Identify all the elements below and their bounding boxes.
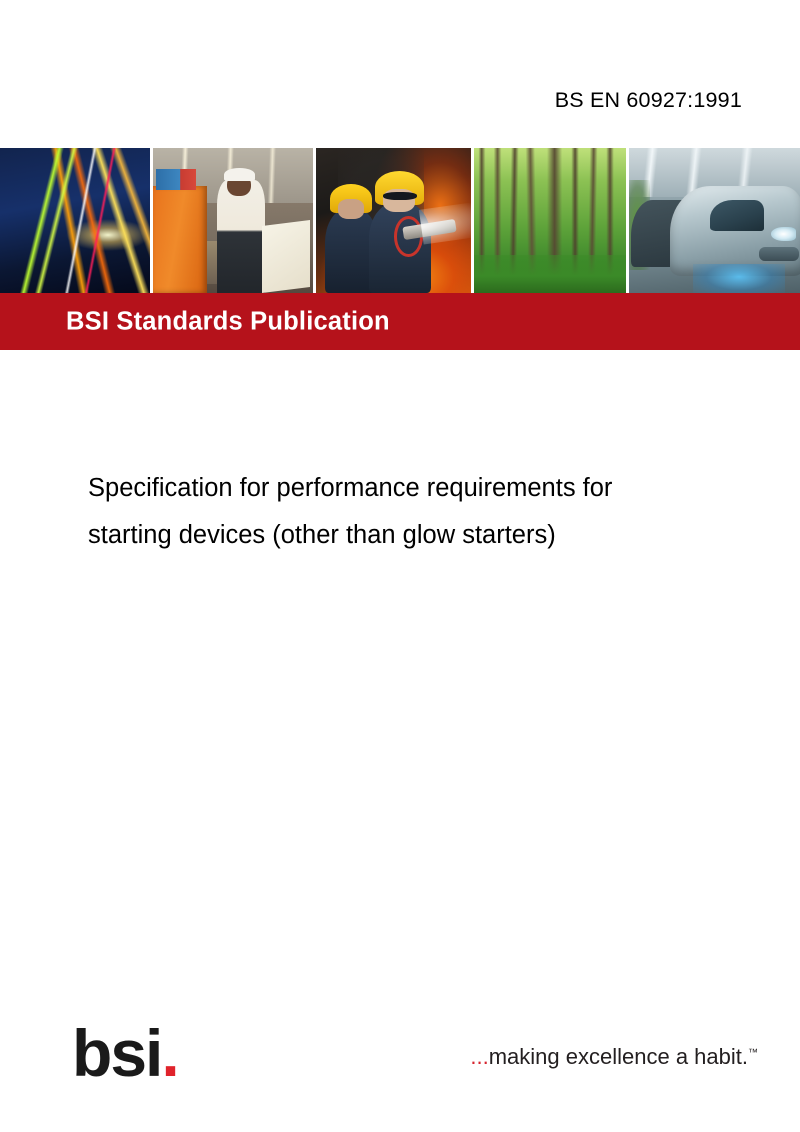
car-windshield xyxy=(710,200,764,231)
car-grille xyxy=(759,247,799,261)
banner-image-warehouse-worker xyxy=(153,148,313,293)
bsi-logo: bsi. xyxy=(72,1020,178,1086)
standard-number: BS EN 60927:1991 xyxy=(555,88,742,113)
firefighter-back-face xyxy=(338,199,364,219)
bsi-tagline: ...making excellence a habit.™ xyxy=(470,1044,758,1070)
page-title-line-1: Specification for performance requiremen… xyxy=(88,465,788,512)
page-title: Specification for performance requiremen… xyxy=(88,465,788,559)
bsi-logo-text: bsi xyxy=(72,1016,161,1090)
publisher-banner: BSI Standards Publication xyxy=(0,293,800,350)
water-spray xyxy=(419,203,471,245)
warehouse-worker-cap xyxy=(224,168,254,181)
cover-image-strip xyxy=(0,148,800,293)
firefighter-visor xyxy=(383,192,417,201)
banner-image-traffic-light-trails xyxy=(0,148,150,293)
forest-floor xyxy=(474,255,626,293)
page-footer: bsi. ...making excellence a habit.™ xyxy=(0,992,800,1132)
publisher-banner-label: BSI Standards Publication xyxy=(66,307,390,336)
banner-image-firefighters xyxy=(316,148,471,293)
warehouse-box xyxy=(262,220,310,293)
tagline-text: making excellence a habit xyxy=(489,1044,742,1069)
car-headlight xyxy=(771,227,797,240)
bsi-logo-dot: . xyxy=(161,1016,177,1090)
tagline-leading-dots: ... xyxy=(470,1044,488,1069)
warehouse-orange-crate xyxy=(153,186,207,293)
banner-image-forest xyxy=(474,148,626,293)
car-underglow xyxy=(693,264,785,293)
banner-image-car-assembly-line xyxy=(629,148,800,293)
warehouse-worker-body xyxy=(217,180,265,293)
car-foreground xyxy=(670,186,800,276)
trademark-symbol: ™ xyxy=(748,1048,758,1059)
page-title-line-2: starting devices (other than glow starte… xyxy=(88,512,788,559)
